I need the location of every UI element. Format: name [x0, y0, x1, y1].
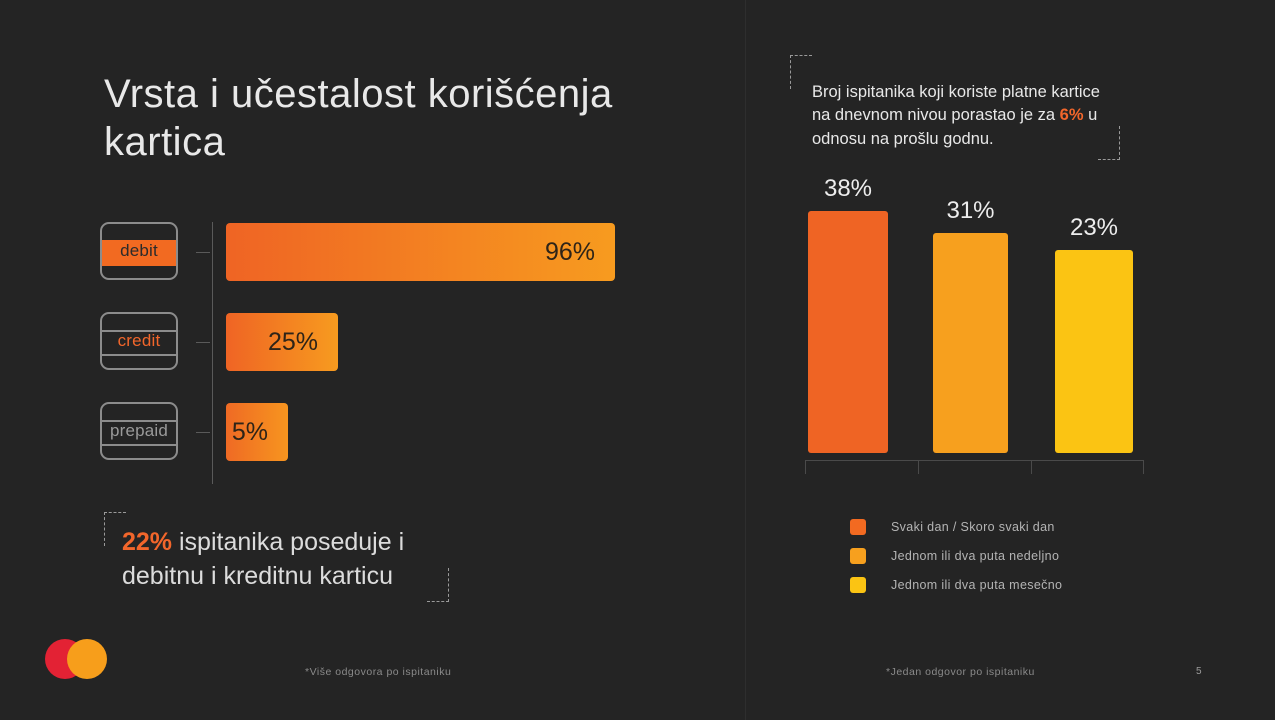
bar-value-weekly: 31%: [933, 197, 1008, 225]
logo-circle-orange: [67, 639, 107, 679]
card-label-prepaid: prepaid: [110, 421, 168, 441]
axis-tick: [196, 432, 210, 433]
bar-daily: [808, 211, 888, 453]
left-callout: 22% ispitanika poseduje i debitnu i kred…: [104, 512, 449, 602]
page-title: Vrsta i učestalost korišćenja kartica: [104, 70, 704, 166]
legend-item: Jednom ili dva puta nedeljno: [850, 541, 1130, 570]
axis-tick: [196, 252, 210, 253]
axis-tick: [918, 460, 919, 474]
legend-label: Jednom ili dva puta mesečno: [891, 578, 1062, 592]
bar-value-credit: 25%: [268, 328, 338, 357]
legend-swatch-icon: [850, 548, 866, 564]
left-callout-highlight: 22%: [122, 528, 172, 556]
bar-value-daily: 38%: [808, 175, 888, 203]
slide-root: Vrsta i učestalost korišćenja kartica de…: [0, 0, 1275, 720]
axis-tick: [1143, 460, 1144, 474]
bar-column-weekly: 31%: [933, 191, 1008, 453]
bar-row-credit: credit 25%: [100, 312, 660, 374]
bracket-top-left-icon: [790, 55, 812, 89]
legend-swatch-icon: [850, 577, 866, 593]
bar-prepaid: 5%: [226, 403, 288, 461]
legend-item: Svaki dan / Skoro svaki dan: [850, 512, 1130, 541]
bar-row-prepaid: prepaid 5%: [100, 402, 660, 464]
axis-tick: [805, 460, 806, 474]
right-callout-text: Broj ispitanika koji koriste platne kart…: [812, 81, 1112, 151]
card-label-debit: debit: [120, 241, 158, 261]
bar-weekly: [933, 233, 1008, 453]
vertical-chart-baseline: [805, 460, 1143, 461]
left-callout-text: 22% ispitanika poseduje i debitnu i kred…: [122, 526, 442, 594]
legend-item: Jednom ili dva puta mesečno: [850, 570, 1130, 599]
bar-column-daily: 38%: [808, 191, 888, 453]
axis-tick: [196, 342, 210, 343]
page-number: 5: [1196, 666, 1202, 677]
card-label-credit: credit: [118, 331, 161, 351]
bar-column-monthly: 23%: [1055, 191, 1133, 453]
bar-row-debit: debit 96%: [100, 222, 660, 284]
panel-divider: [745, 0, 746, 720]
bar-value-monthly: 23%: [1055, 214, 1133, 242]
mastercard-logo-icon: [45, 639, 107, 679]
bar-credit: 25%: [226, 313, 338, 371]
right-callout-before: Broj ispitanika koji koriste platne kart…: [812, 83, 1100, 124]
legend-label: Svaki dan / Skoro svaki dan: [891, 520, 1055, 534]
legend-label: Jednom ili dva puta nedeljno: [891, 549, 1059, 563]
right-callout-highlight: 6%: [1060, 106, 1084, 124]
axis-tick: [1031, 460, 1032, 474]
credit-card-icon: credit: [100, 312, 178, 370]
footnote-left: *Više odgovora po ispitaniku: [305, 666, 451, 678]
bar-debit: 96%: [226, 223, 615, 281]
bar-value-debit: 96%: [545, 238, 615, 267]
horizontal-bar-chart: debit 96% credit 25% prepaid: [100, 222, 660, 484]
vertical-bar-chart: 38% 31% 23%: [800, 175, 1145, 475]
bar-value-prepaid: 5%: [232, 418, 288, 447]
bar-monthly: [1055, 250, 1133, 453]
prepaid-card-icon: prepaid: [100, 402, 178, 460]
footnote-right: *Jedan odgovor po ispitaniku: [886, 666, 1035, 678]
chart-legend: Svaki dan / Skoro svaki dan Jednom ili d…: [850, 512, 1130, 599]
debit-card-icon: debit: [100, 222, 178, 280]
right-callout: Broj ispitanika koji koriste platne kart…: [790, 55, 1120, 160]
legend-swatch-icon: [850, 519, 866, 535]
